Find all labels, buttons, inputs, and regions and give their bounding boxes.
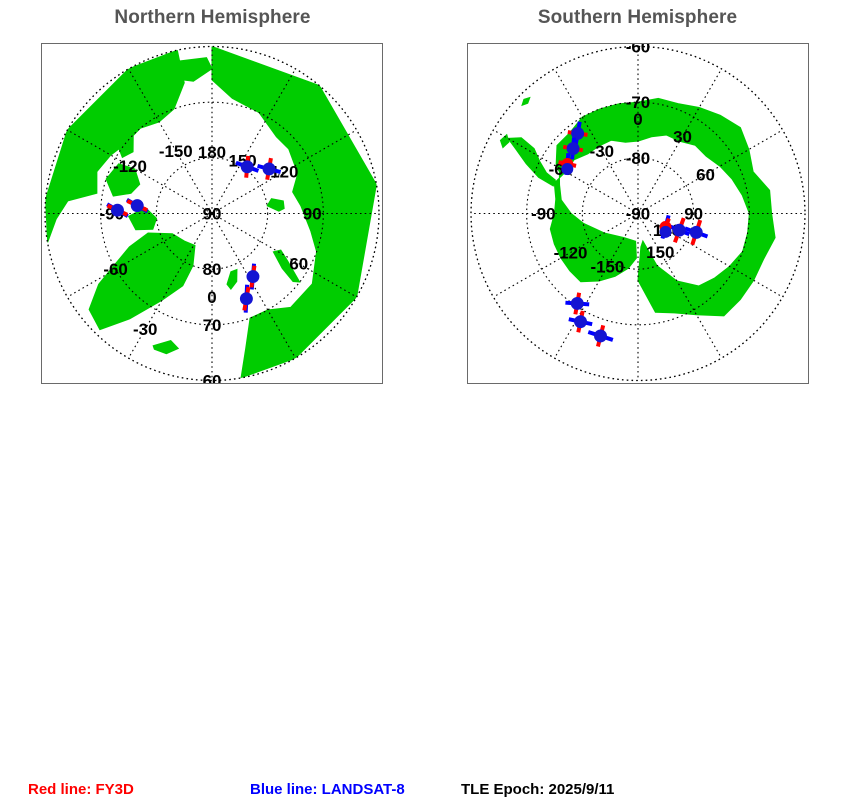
lat-ring-label--90: -90 <box>626 204 650 223</box>
southern-hemisphere-map: 0306090120150-150-120-90-60-30-60-70-80-… <box>468 44 808 383</box>
satellite-marker <box>571 297 584 310</box>
northern-hemisphere-panel: Northern Hemisphere 180-150-120-90-60-30… <box>0 0 425 425</box>
landsat8-marker <box>561 163 573 175</box>
lon-label-60: 60 <box>289 255 308 274</box>
legend-footer: Red line: FY3D Blue line: LANDSAT-8 TLE … <box>0 385 850 425</box>
lon-label-60: 60 <box>696 165 715 184</box>
lon-label-150: 150 <box>646 243 674 262</box>
landsat8-marker <box>660 226 672 238</box>
satellite-marker <box>131 199 144 212</box>
lon-label--30: -30 <box>590 142 614 161</box>
satellite-marker <box>594 330 607 343</box>
satellite-track-figure: Northern Hemisphere 180-150-120-90-60-30… <box>0 0 850 425</box>
lat-ring-label-90: 90 <box>203 204 222 223</box>
lat-ring-label-60: 60 <box>203 371 222 383</box>
lat-ring-label-80: 80 <box>203 260 222 279</box>
red-line-legend: Red line: FY3D <box>28 781 134 798</box>
tle-epoch-label: TLE Epoch: 2025/9/11 <box>461 781 614 798</box>
satellite-marker <box>263 163 276 176</box>
satellite-marker <box>567 142 580 155</box>
lon-label-30: 30 <box>673 127 692 146</box>
satellite-marker <box>240 292 253 305</box>
lon-label--120: -120 <box>554 243 588 262</box>
satellite-marker <box>246 270 259 283</box>
lon-label-180: 180 <box>198 143 226 162</box>
satellite-marker <box>241 160 254 173</box>
northern-hemisphere-plot: 180-150-120-90-60-300609012015090807060 <box>41 43 383 384</box>
lon-label--120: -120 <box>113 157 147 176</box>
lon-label--90: -90 <box>531 204 555 223</box>
satellite-marker <box>673 224 686 237</box>
lon-label--30: -30 <box>133 320 157 339</box>
lon-label--150: -150 <box>590 257 624 276</box>
satellite-marker <box>111 204 124 217</box>
blue-line-legend: Blue line: LANDSAT-8 <box>250 781 405 798</box>
lon-label-0: 0 <box>207 288 216 307</box>
satellite-marker <box>574 315 587 328</box>
satellite-marker <box>690 226 703 239</box>
northern-hemisphere-title: Northern Hemisphere <box>0 7 425 29</box>
southern-hemisphere-title: Southern Hemisphere <box>425 7 850 29</box>
lon-label--150: -150 <box>159 142 193 161</box>
southern-hemisphere-plot: 0306090120150-150-120-90-60-30-60-70-80-… <box>467 43 809 384</box>
lon-label-0: 0 <box>633 110 642 129</box>
northern-hemisphere-map: 180-150-120-90-60-300609012015090807060 <box>42 44 382 383</box>
lat-ring-label--80: -80 <box>626 149 650 168</box>
lon-label--60: -60 <box>103 260 127 279</box>
lat-ring-label--60: -60 <box>626 44 650 56</box>
lon-label-90: 90 <box>303 204 322 223</box>
lat-ring-label--70: -70 <box>626 93 650 112</box>
southern-hemisphere-panel: Southern Hemisphere 0306090120150-150-12… <box>425 0 850 425</box>
lat-ring-label-70: 70 <box>203 316 222 335</box>
